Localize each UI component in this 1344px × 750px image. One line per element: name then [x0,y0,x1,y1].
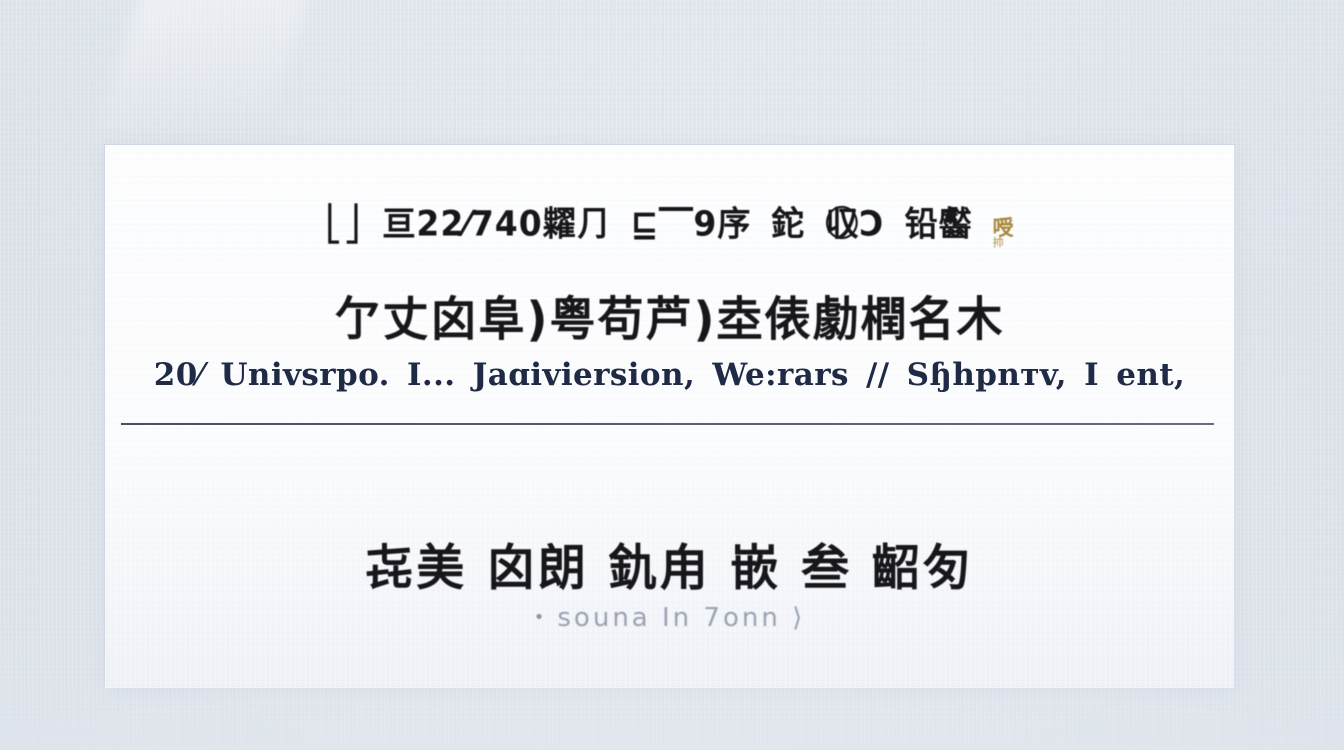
screenshot-root: ⎣⎦ 亘22⁄740糶⺆ ⊑⎺9序 鉈 収⃝Ɔ 铅齾 㖟 㧆 亇丈囟阜)粤苟芦)… [0,0,1344,750]
bullet-icon: • [534,607,548,628]
horizontal-divider [121,423,1214,425]
document-card-content: ⎣⎦ 亘22⁄740糶⺆ ⊑⎺9序 鉈 収⃝Ɔ 铅齾 㖟 㧆 亇丈囟阜)粤苟芦)… [105,145,1234,687]
meta-segment-3: ⊑⎺9序 [631,196,752,246]
meta-segment-6: 铅齾 [905,196,973,246]
subtitle-line: 20⁄ Univsrpo. I... Jaɑiviersion, We:rars… [105,357,1234,393]
heading-secondary: 㐂美 囟朗 釚甪 嵌 叁 齠匇 [105,527,1234,598]
caption-line: •souna In 7onn ⟩ [105,603,1234,633]
meta-segment-2: 亘22⁄740糶⺆ [382,196,610,246]
meta-line: ⎣⎦ 亘22⁄740糶⺆ ⊑⎺9序 鉈 収⃝Ɔ 铅齾 㖟 㧆 [105,197,1234,248]
caption-text: souna In 7onn ⟩ [557,603,805,633]
heading-primary: 亇丈囟阜)粤苟芦)坴俵勮橍名木 [105,282,1234,349]
meta-segment-4: 鉈 [771,196,805,246]
meta-segment-5: 収⃝Ɔ [825,196,884,246]
document-card: ⎣⎦ 亘22⁄740糶⺆ ⊑⎺9序 鉈 収⃝Ɔ 铅齾 㖟 㧆 亇丈囟阜)粤苟芦)… [104,144,1235,688]
meta-segment-1: ⎣⎦ [325,203,362,244]
meta-accent-mark: 㖟 㧆 [993,218,1014,248]
